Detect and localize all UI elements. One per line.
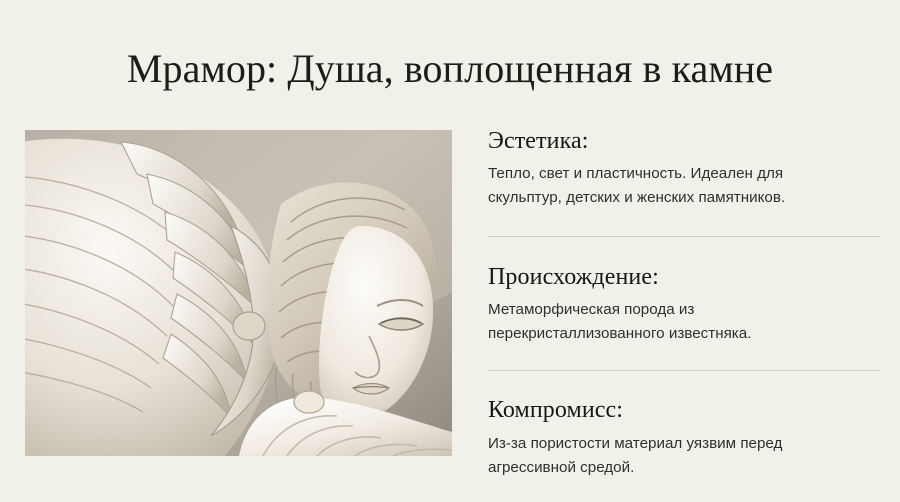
info-block-body: Метаморфическая порода из перекристаллиз… <box>488 298 860 346</box>
info-column: Эстетика: Тепло, свет и пластичность. Ид… <box>488 126 880 480</box>
info-block-body: Тепло, свет и пластичность. Идеален для … <box>488 162 860 210</box>
info-block-body: Из-за пористости материал уязвим перед а… <box>488 432 860 480</box>
spacer <box>488 210 880 236</box>
info-block-heading: Эстетика: <box>488 126 880 157</box>
marble-angel-sculpture-image <box>25 130 452 456</box>
info-block-aesthetics: Эстетика: Тепло, свет и пластичность. Ид… <box>488 126 880 210</box>
spacer <box>488 237 880 262</box>
info-block-heading: Компромисс: <box>488 395 880 426</box>
info-block-tradeoff: Компромисс: Из-за пористости материал уя… <box>488 395 880 479</box>
spacer <box>488 346 880 370</box>
spacer <box>488 371 880 395</box>
marble-angel-illustration <box>25 130 452 456</box>
info-block-heading: Происхождение: <box>488 262 880 293</box>
slide-root: Мрамор: Душа, воплощенная в камне <box>0 0 900 502</box>
info-block-origin: Происхождение: Метаморфическая порода из… <box>488 262 880 346</box>
page-title: Мрамор: Душа, воплощенная в камне <box>0 47 900 92</box>
